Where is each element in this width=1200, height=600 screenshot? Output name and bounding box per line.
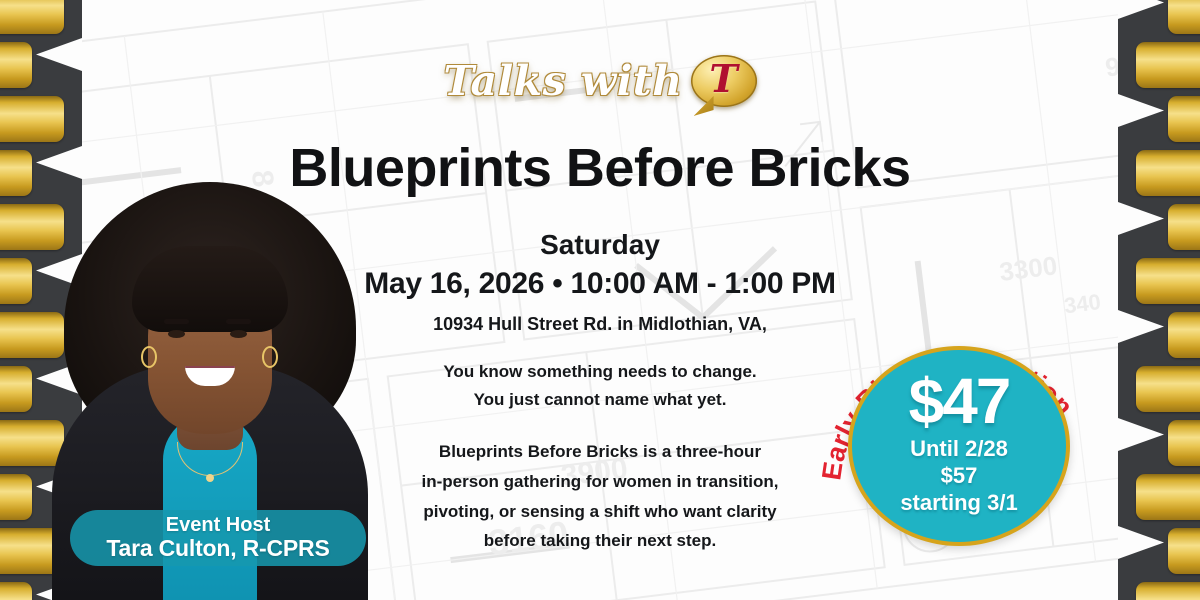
early-bird-price: $47 — [909, 371, 1010, 432]
event-day: Saturday — [120, 228, 1080, 262]
price-badge[interactable]: Early Bird Registration $47 Until 2/28 $… — [826, 296, 1096, 558]
event-flyer: 160 8 3160 3900 3300 340 2 9 D — [0, 0, 1200, 600]
host-badge: Event Host Tara Culton, R-CPRS — [70, 510, 366, 566]
brand-logo: Talks with T — [0, 55, 1200, 107]
regular-start-date: starting 3/1 — [900, 490, 1017, 517]
portrait-earring-left — [141, 346, 157, 368]
host-role-label: Event Host — [166, 514, 270, 536]
price-badge-circle[interactable]: $47 Until 2/28 $57 starting 3/1 — [848, 346, 1070, 546]
host-name: Tara Culton, R-CPRS — [106, 536, 329, 561]
page-title: Blueprints Before Bricks — [130, 140, 1070, 197]
regular-price: $57 — [941, 463, 978, 490]
speech-bubble-icon: T — [691, 55, 757, 107]
early-bird-deadline: Until 2/28 — [910, 436, 1008, 463]
brand-logo-text: Talks with — [443, 57, 682, 105]
brand-initial-letter: T — [691, 55, 757, 107]
